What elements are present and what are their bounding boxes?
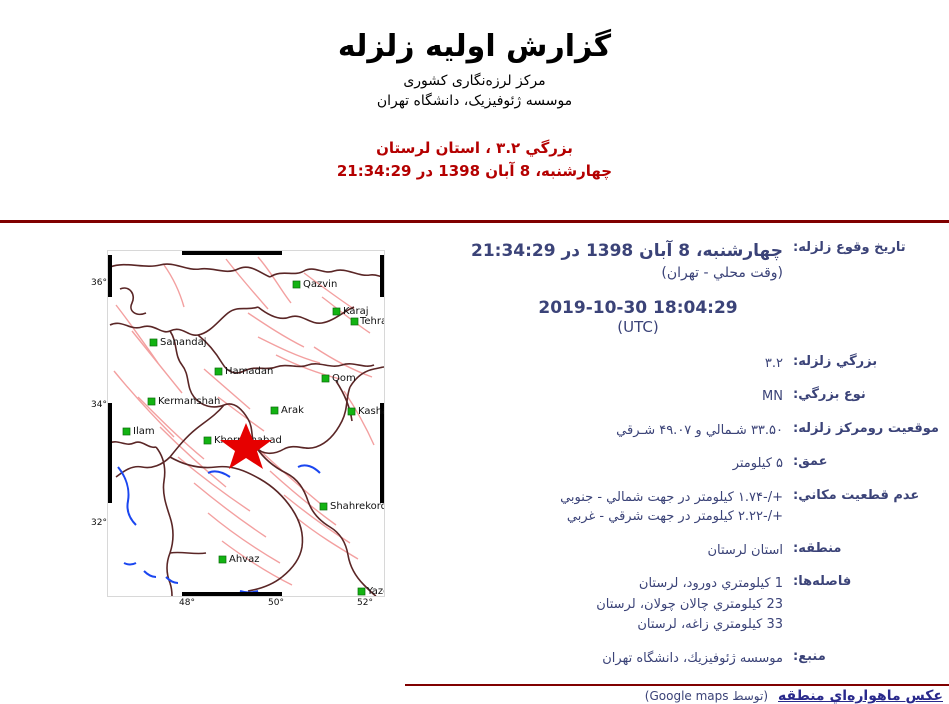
value-magnitude-type: MN — [423, 387, 783, 407]
map-lon-tick-52: 52° — [357, 598, 373, 608]
svg-text:Sanandaj: Sanandaj — [160, 337, 207, 348]
svg-text:Hamadan: Hamadan — [225, 366, 273, 377]
list-item: 23 کیلومتري چالان چولان، لرستان — [423, 595, 783, 615]
map-graphic: Qazvin Karaj Tehran Sanandaj Hamadan Qom… — [108, 251, 384, 596]
value-epicenter: ۳۳.۵۰ شـمالي و ۴۹.۰۷ شـرقي — [423, 421, 783, 441]
value-region: استان لرستان — [423, 541, 783, 561]
value-date: چهارشنبه، 8 آبان 1398 در 21:34:29 — [423, 240, 783, 263]
svg-text:Ilam: Ilam — [133, 426, 155, 437]
map-lat-tick-34: 34° — [91, 400, 107, 410]
svg-text:Kashan: Kashan — [358, 406, 384, 417]
svg-text:Kermanshah: Kermanshah — [158, 396, 220, 407]
detail-row-source: منبع: موسسه ژئوفیزیك، دانشگاه تهران — [423, 649, 943, 669]
organization-line-1: مرکز لرزه‌نگاری کشوری — [0, 71, 949, 91]
svg-text:Qom: Qom — [332, 373, 356, 384]
detail-utc-block: 2019-10-30 18:04:29 (UTC) — [423, 298, 943, 336]
report-header: گزارش اوليه زلزله مرکز لرزه‌نگاری کشوری … — [0, 0, 949, 111]
svg-text:Yazd: Yazd — [366, 586, 384, 596]
map-lat-tick-32: 32° — [91, 518, 107, 528]
svg-text:Qazvin: Qazvin — [303, 279, 337, 290]
label-source: منبع: — [783, 649, 943, 664]
detail-row-region: منطقه: استان لرستان — [423, 541, 943, 561]
label-magnitude: بزرگي زلزله: — [783, 354, 943, 369]
detail-row-distances: فاصله‌ها: 1 کیلومتري دورود، لرستان 23 کی… — [423, 574, 943, 634]
summary-magnitude-region: بزرگي ۳.۲ ، استان لرستان — [0, 137, 949, 160]
divider-bottom — [405, 684, 949, 686]
satellite-image-link[interactable]: عکس ماهواره‌اي منطقه — [778, 688, 943, 704]
map-lon-tick-50: 50° — [268, 598, 284, 608]
satellite-image-attribution: (توسط Google maps) — [645, 689, 778, 703]
value-utc-note: (UTC) — [423, 318, 853, 336]
value-source: موسسه ژئوفیزیك، دانشگاه تهران — [423, 649, 783, 669]
label-epicenter: موقعیت رومرکز زلزله: — [783, 421, 943, 436]
svg-text:Tehran: Tehran — [359, 316, 384, 327]
detail-row-uncertainty: عدم قطعیت مکاني: +/-۱.۷۴ کیلومتر در جهت … — [423, 488, 943, 527]
detail-row-magnitude-type: نوع بزرگي: MN — [423, 387, 943, 407]
summary-datetime: چهارشنبه، 8 آبان 1398 در 21:34:29 — [0, 160, 949, 183]
label-region: منطقه: — [783, 541, 943, 556]
label-depth: عمق: — [783, 454, 943, 469]
list-item: 33 کیلومتري زاغه، لرستان — [423, 615, 783, 635]
svg-text:Ahvaz: Ahvaz — [229, 554, 259, 565]
label-magnitude-type: نوع بزرگي: — [783, 387, 943, 402]
value-magnitude: ۳.۲ — [423, 354, 783, 374]
satellite-image-row: عکس ماهواره‌اي منطقه (توسط Google maps) — [423, 688, 943, 704]
svg-text:Shahrekord: Shahrekord — [330, 501, 384, 512]
map-lon-tick-48: 48° — [179, 598, 195, 608]
svg-text:Arak: Arak — [281, 405, 304, 416]
organization-line-2: موسسه ژئوفیزیک، دانشگاه تهران — [0, 91, 949, 111]
detail-row-magnitude: بزرگي زلزله: ۳.۲ — [423, 354, 943, 374]
event-summary: بزرگي ۳.۲ ، استان لرستان چهارشنبه، 8 آبا… — [0, 137, 949, 182]
value-uncertainty-ew: +/-۲.۲۲ کیلومتر در جهت شرقي - غربي — [423, 507, 783, 527]
page-title: گزارش اوليه زلزله — [0, 30, 949, 65]
map-image[interactable]: Qazvin Karaj Tehran Sanandaj Hamadan Qom… — [107, 250, 385, 597]
label-distances: فاصله‌ها: — [783, 574, 943, 589]
map-container: 36° 34° 32° 48° 50° 52° — [95, 240, 395, 605]
detail-row-date: تاریخ وقوع زلزله: چهارشنبه، 8 آبان 1398 … — [423, 240, 943, 284]
label-date: تاریخ وقوع زلزله: — [783, 240, 943, 255]
detail-row-epicenter: موقعیت رومرکز زلزله: ۳۳.۵۰ شـمالي و ۴۹.۰… — [423, 421, 943, 441]
detail-row-depth: عمق: ۵ کیلومتر — [423, 454, 943, 474]
map-lat-tick-36: 36° — [91, 278, 107, 288]
list-item: 1 کیلومتري دورود، لرستان — [423, 574, 783, 594]
value-date-localnote: (وقت محلي - تهران) — [423, 263, 783, 284]
value-depth: ۵ کیلومتر — [423, 454, 783, 474]
label-uncertainty: عدم قطعیت مکاني: — [783, 488, 943, 503]
divider-top — [0, 220, 949, 223]
earthquake-details: تاریخ وقوع زلزله: چهارشنبه، 8 آبان 1398 … — [423, 240, 949, 704]
value-utc: 2019-10-30 18:04:29 — [423, 298, 853, 318]
value-uncertainty-ns: +/-۱.۷۴ کیلومتر در جهت شمالي - جنوبي — [423, 488, 783, 508]
map-pane: 36° 34° 32° 48° 50° 52° — [60, 240, 420, 605]
